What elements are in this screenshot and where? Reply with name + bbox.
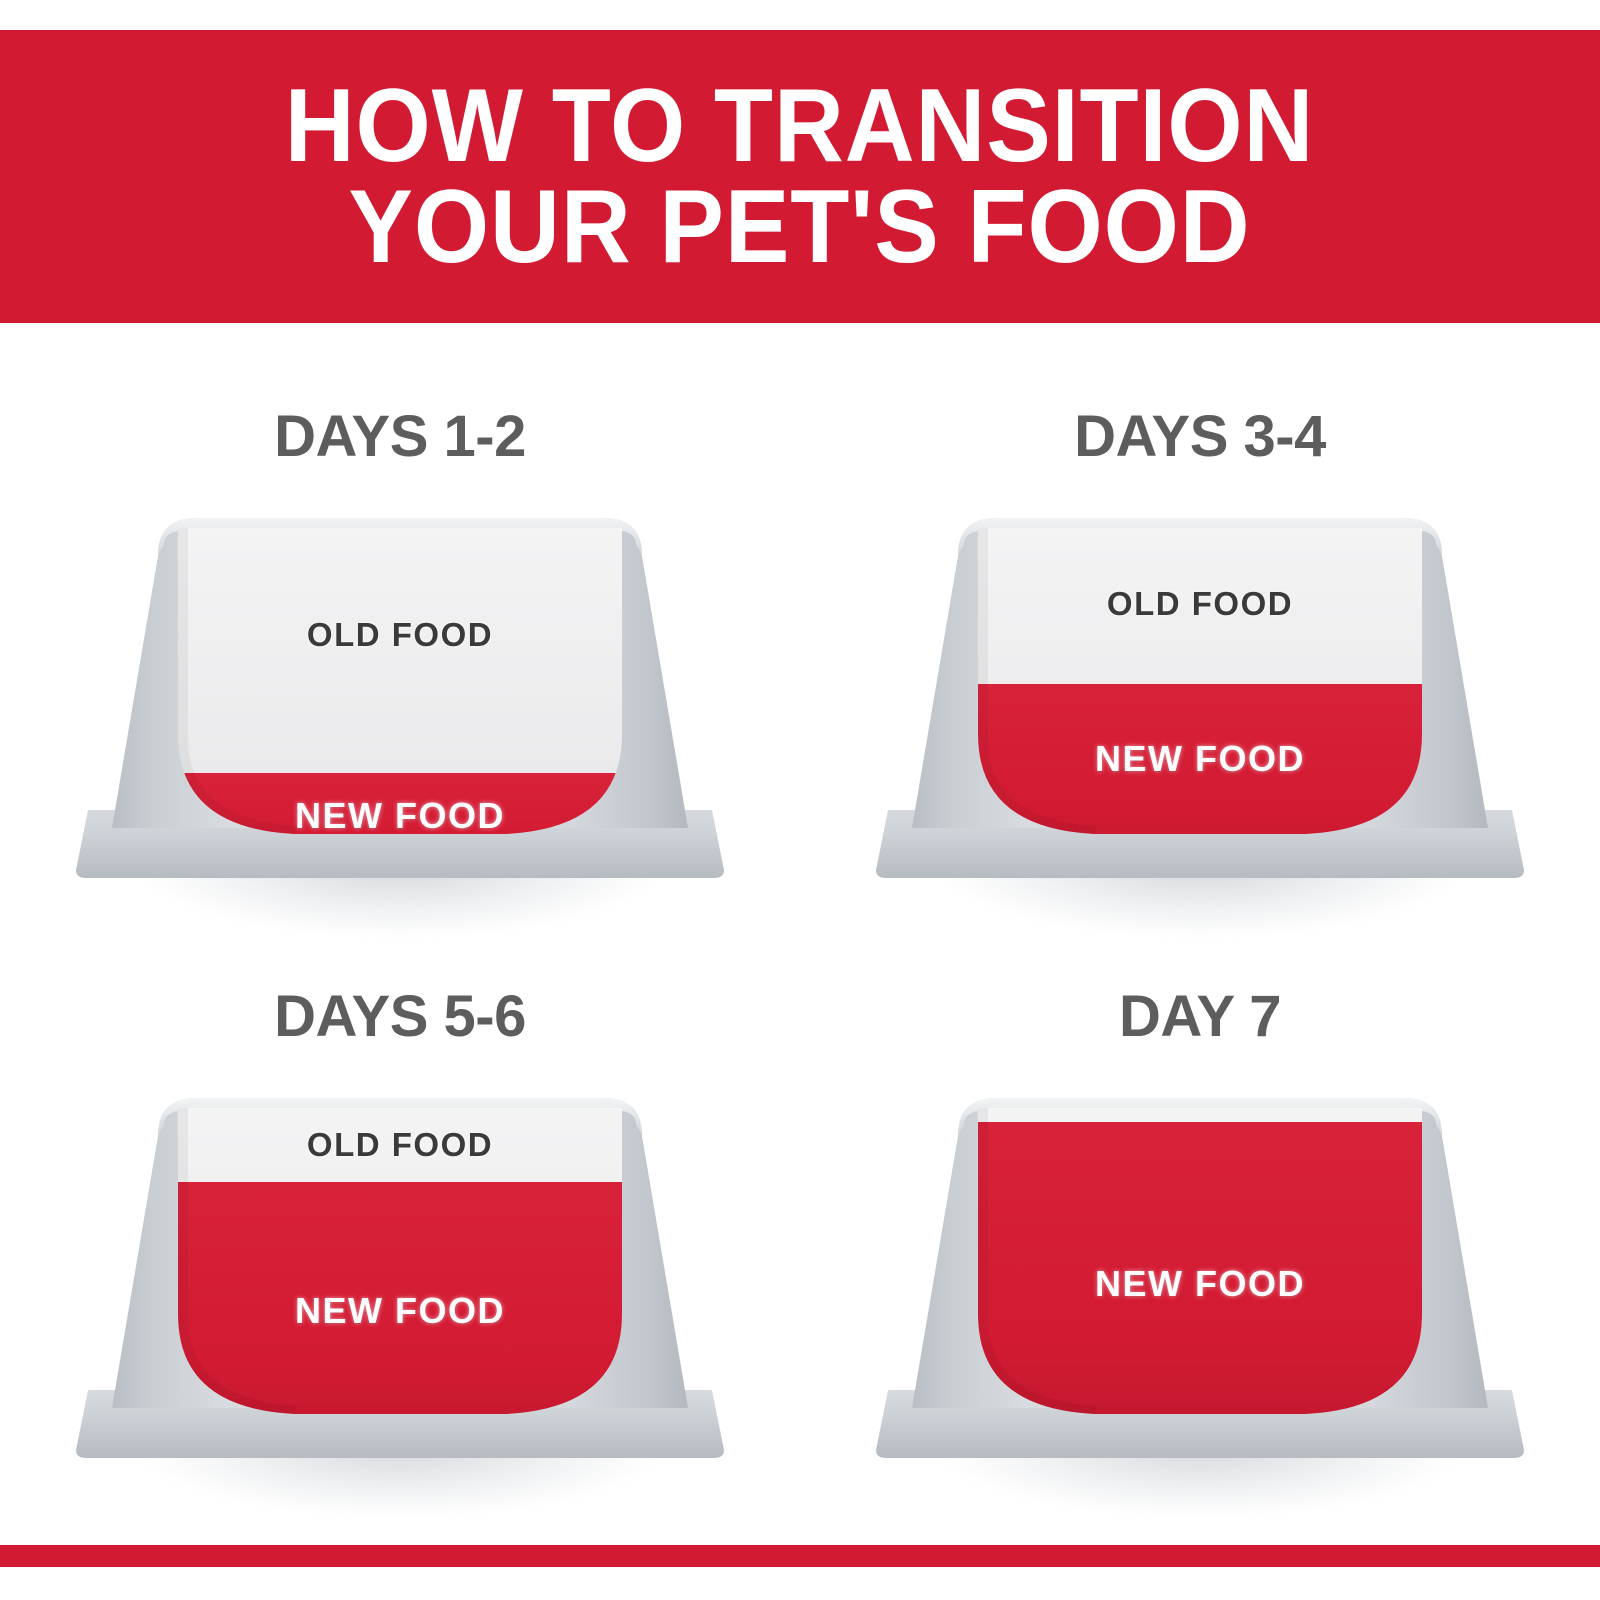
food-bowl-day-7: NEW FOOD (870, 1078, 1530, 1478)
new-food-label: NEW FOOD (870, 738, 1530, 780)
food-bowl-days-3-4: OLD FOOD NEW FOOD (870, 498, 1530, 898)
step-panel-days-5-6: DAYS 5-6 (0, 948, 800, 1538)
old-food-label: OLD FOOD (870, 585, 1530, 623)
step-panel-days-1-2: DAYS 1-2 (0, 368, 800, 958)
bowl-graphic (870, 498, 1530, 898)
header-banner: HOW TO TRANSITION YOUR PET'S FOOD (0, 30, 1600, 323)
new-food-label: NEW FOOD (70, 795, 730, 837)
step-title: DAYS 1-2 (0, 403, 800, 470)
new-food-label: NEW FOOD (870, 1263, 1530, 1305)
old-food-label: OLD FOOD (70, 616, 730, 654)
old-food-label: OLD FOOD (70, 1126, 730, 1164)
transition-steps-grid: DAYS 1-2 (0, 323, 1600, 1545)
food-bowl-days-5-6: OLD FOOD NEW FOOD (70, 1078, 730, 1478)
step-title: DAYS 5-6 (0, 983, 800, 1050)
food-bowl-days-1-2: OLD FOOD NEW FOOD (70, 498, 730, 898)
bowl-graphic (70, 498, 730, 898)
page-title: HOW TO TRANSITION YOUR PET'S FOOD (285, 76, 1315, 278)
step-panel-day-7: DAY 7 (800, 948, 1600, 1538)
new-food-label: NEW FOOD (70, 1290, 730, 1332)
step-panel-days-3-4: DAYS 3-4 (800, 368, 1600, 958)
step-title: DAYS 3-4 (800, 403, 1600, 470)
step-title: DAY 7 (800, 983, 1600, 1050)
footer-accent-bar (0, 1545, 1600, 1567)
